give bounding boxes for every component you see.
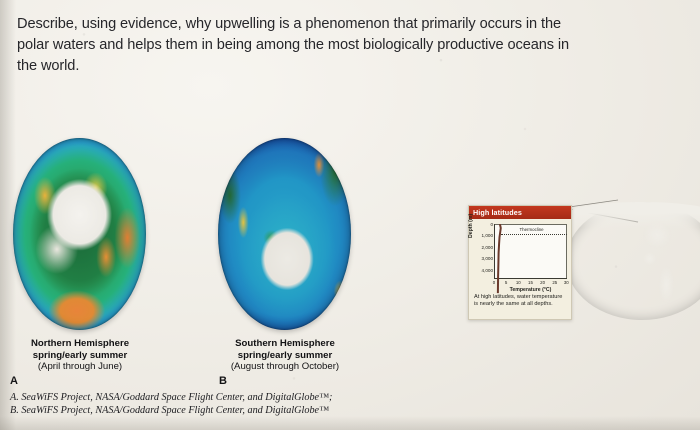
ytick-2000: 2,000 [482,245,494,250]
ytick-4000: 4,000 [482,268,494,273]
question-line-3: the world. [17,56,675,77]
xtick-10: 10 [516,280,521,285]
ytick-1000: 1,000 [482,233,494,238]
chart-x-tick-labels: 0 5 10 15 20 25 30 [494,280,567,287]
caption-globe-b: Southern Hemisphere spring/early summer … [185,338,385,373]
xtick-5: 5 [505,280,507,285]
xtick-25: 25 [552,280,557,285]
depth-temperature-chart: Depth (m) 0 1,000 2,000 3,000 4,000 Ther… [472,222,568,286]
sst-globe-top-highlight [566,202,700,228]
question-line-2: polar waters and helps them in being amo… [17,35,675,56]
caption-globe-a: Northern Hemisphere spring/early summer … [0,338,180,373]
globe-northern-hemisphere [13,138,146,330]
question-text: Describe, using evidence, why upwelling … [17,14,675,77]
chart-y-axis-label: Depth (m) [468,214,474,238]
chart-x-axis-label: Temperature (°C) [494,287,567,293]
figure-letter-b: B [219,375,227,387]
globe-southern-hemisphere [218,138,351,330]
chart-plot-area: Thermocline [494,224,567,279]
ytick-0: 0 [490,222,493,227]
xtick-0: 0 [493,280,495,285]
sea-surface-temperature-globe [566,202,700,320]
xtick-30: 30 [564,280,569,285]
globe-b-image [218,138,351,330]
inset-header-banner: High latitudes [469,206,571,219]
caption-b-line3: (August through October) [185,361,385,373]
caption-b-line2: spring/early summer [185,350,385,362]
sst-globe-image [566,202,700,320]
xtick-20: 20 [540,280,545,285]
caption-a-title: Northern Hemisphere [0,338,180,350]
chart-y-tick-labels: 0 1,000 2,000 3,000 4,000 [476,222,493,278]
ytick-3000: 3,000 [482,256,494,261]
caption-a-line2: spring/early summer [0,350,180,362]
caption-a-line3: (April through June) [0,361,180,373]
inset-caption-text: At high latitudes, water temperature is … [474,294,567,309]
globe-a-image [13,138,146,330]
figure-credits: A. SeaWiFS Project, NASA/Goddard Space F… [10,391,430,417]
caption-b-title: Southern Hemisphere [185,338,385,350]
credit-line-a: A. SeaWiFS Project, NASA/Goddard Space F… [10,391,430,404]
credit-line-b: B. SeaWiFS Project, NASA/Goddard Space F… [10,404,430,417]
question-line-1: Describe, using evidence, why upwelling … [17,14,675,35]
xtick-15: 15 [528,280,533,285]
high-latitudes-inset-panel: High latitudes Depth (m) 0 1,000 2,000 3… [468,205,572,320]
figure-letter-a: A [10,375,18,387]
